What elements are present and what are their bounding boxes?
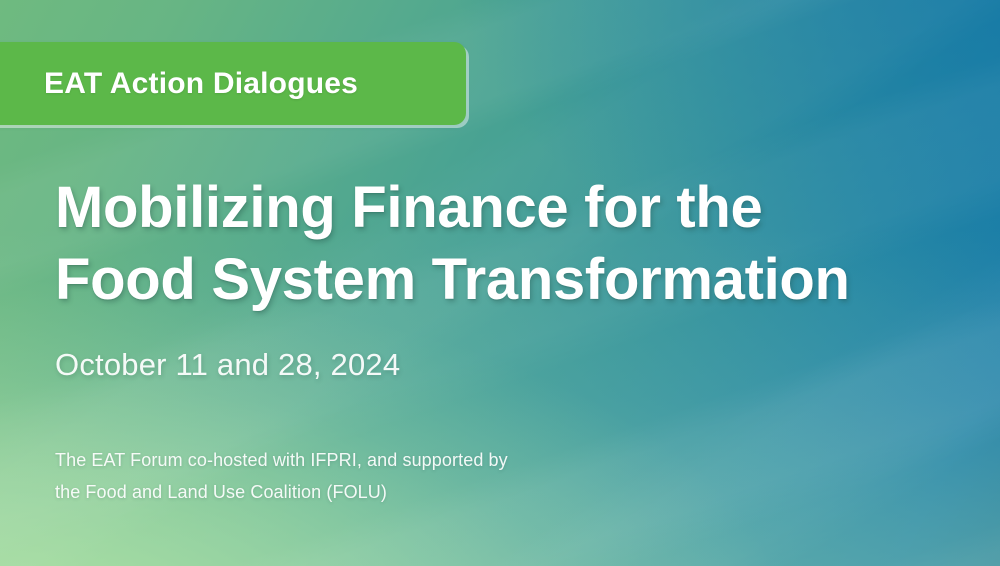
series-badge-label: EAT Action Dialogues	[44, 69, 358, 99]
event-banner: EAT Action Dialogues Mobilizing Finance …	[0, 0, 1000, 566]
caption-line-2: the Food and Land Use Coalition (FOLU)	[55, 476, 508, 508]
headline: Mobilizing Finance for the Food System T…	[55, 172, 955, 316]
caption: The EAT Forum co-hosted with IFPRI, and …	[55, 444, 508, 508]
headline-line-1: Mobilizing Finance for the	[55, 172, 955, 244]
series-badge: EAT Action Dialogues	[0, 42, 466, 125]
event-date: October 11 and 28, 2024	[55, 347, 400, 383]
caption-line-1: The EAT Forum co-hosted with IFPRI, and …	[55, 444, 508, 476]
headline-line-2: Food System Transformation	[55, 244, 955, 316]
